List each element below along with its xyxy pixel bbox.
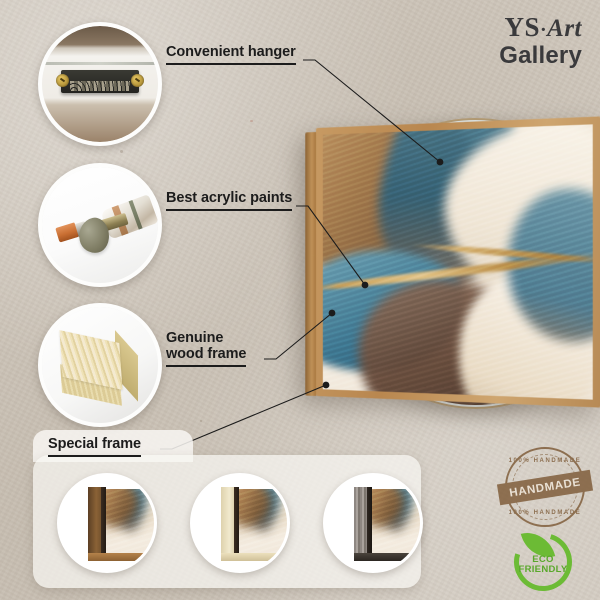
feature-photo-wood[interactable] bbox=[38, 303, 162, 427]
art-brush-strokes bbox=[323, 124, 593, 399]
frame-swatch-walnut[interactable] bbox=[57, 473, 157, 573]
handmade-banner-text: HANDMADE bbox=[509, 476, 582, 499]
canvas-artwork bbox=[323, 124, 593, 399]
label-underline bbox=[166, 365, 246, 367]
feature-photo-paints[interactable] bbox=[38, 163, 162, 287]
swatch-white-background bbox=[326, 476, 420, 570]
swatch-white-background bbox=[60, 476, 154, 570]
swatch-frame-face bbox=[101, 487, 106, 560]
feature-label-wood-line2: wood frame bbox=[166, 346, 246, 362]
eco-friendly-badge: ECO FRIENDLY bbox=[508, 527, 578, 597]
art-brush-strokes bbox=[369, 489, 423, 557]
swatch-white-background bbox=[193, 476, 287, 570]
handmade-banner: HANDMADE bbox=[497, 470, 593, 505]
handmade-arc-top: 100% HANDMADE bbox=[507, 458, 583, 464]
frame-swatch-natural[interactable] bbox=[190, 473, 290, 573]
hanger-screw-left bbox=[56, 74, 69, 87]
swatch-artwork-corner bbox=[103, 489, 157, 557]
swatch-artwork-corner bbox=[236, 489, 290, 557]
feature-label-wood: Genuine wood frame bbox=[166, 330, 246, 367]
pine-wood-profile-photo bbox=[42, 307, 158, 423]
swatch-artwork-corner bbox=[369, 489, 423, 557]
artwork-paint-layers bbox=[103, 489, 157, 557]
special-frame-label: Special frame bbox=[48, 436, 141, 457]
feature-label-paints-text: Best acrylic paints bbox=[166, 190, 292, 206]
label-underline bbox=[166, 63, 296, 65]
hanger-metal-plate bbox=[61, 70, 140, 93]
feature-label-wood-line1: Genuine bbox=[166, 330, 223, 346]
artwork-paint-layers bbox=[369, 489, 423, 557]
artwork-paint-layers bbox=[236, 489, 290, 557]
feature-photo-hanger[interactable] bbox=[38, 22, 162, 146]
brush-and-paint-tube-photo bbox=[42, 167, 158, 283]
brand-art: Art bbox=[547, 15, 582, 42]
swatch-frame-bottom bbox=[88, 553, 157, 561]
paint-tube-band-secondary bbox=[128, 200, 143, 230]
frame-swatch-grey[interactable] bbox=[323, 473, 423, 573]
eco-badge-text: ECO FRIENDLY bbox=[508, 555, 578, 575]
label-underline bbox=[48, 455, 141, 457]
label-underline bbox=[166, 209, 292, 211]
brand-logo: YS·Art Gallery bbox=[499, 14, 582, 68]
special-frame-label-text: Special frame bbox=[48, 436, 141, 452]
frame-side-edge bbox=[305, 132, 316, 396]
brand-logo-line1: YS·Art bbox=[499, 14, 582, 41]
handmade-arc-bottom: 100% HANDMADE bbox=[507, 510, 583, 516]
feature-label-paints: Best acrylic paints bbox=[166, 190, 292, 211]
brand-ys: YS bbox=[504, 12, 540, 42]
eco-badge-line2: FRIENDLY bbox=[508, 565, 578, 575]
artwork-paint-layers bbox=[323, 124, 593, 399]
hanger-sawtooth bbox=[70, 81, 130, 92]
art-brush-strokes bbox=[236, 489, 290, 557]
swatch-frame-face bbox=[234, 487, 239, 560]
framed-canvas[interactable] bbox=[316, 116, 600, 407]
swatch-frame-face bbox=[367, 487, 372, 560]
sawtooth-hanger-photo bbox=[42, 26, 158, 142]
hanger-frame-groove bbox=[42, 62, 158, 65]
art-brush-strokes bbox=[103, 489, 157, 557]
feature-label-hanger: Convenient hanger bbox=[166, 44, 296, 65]
feature-label-hanger-text: Convenient hanger bbox=[166, 44, 296, 60]
handmade-stamp-badge: 100% HANDMADE 100% HANDMADE HANDMADE bbox=[505, 447, 585, 527]
hanger-screw-right bbox=[131, 74, 144, 87]
brand-logo-line2: Gallery bbox=[499, 44, 582, 68]
swatch-frame-bottom bbox=[354, 553, 423, 561]
swatch-frame-bottom bbox=[221, 553, 290, 561]
infographic-canvas: YS·Art Gallery bbox=[0, 0, 600, 600]
